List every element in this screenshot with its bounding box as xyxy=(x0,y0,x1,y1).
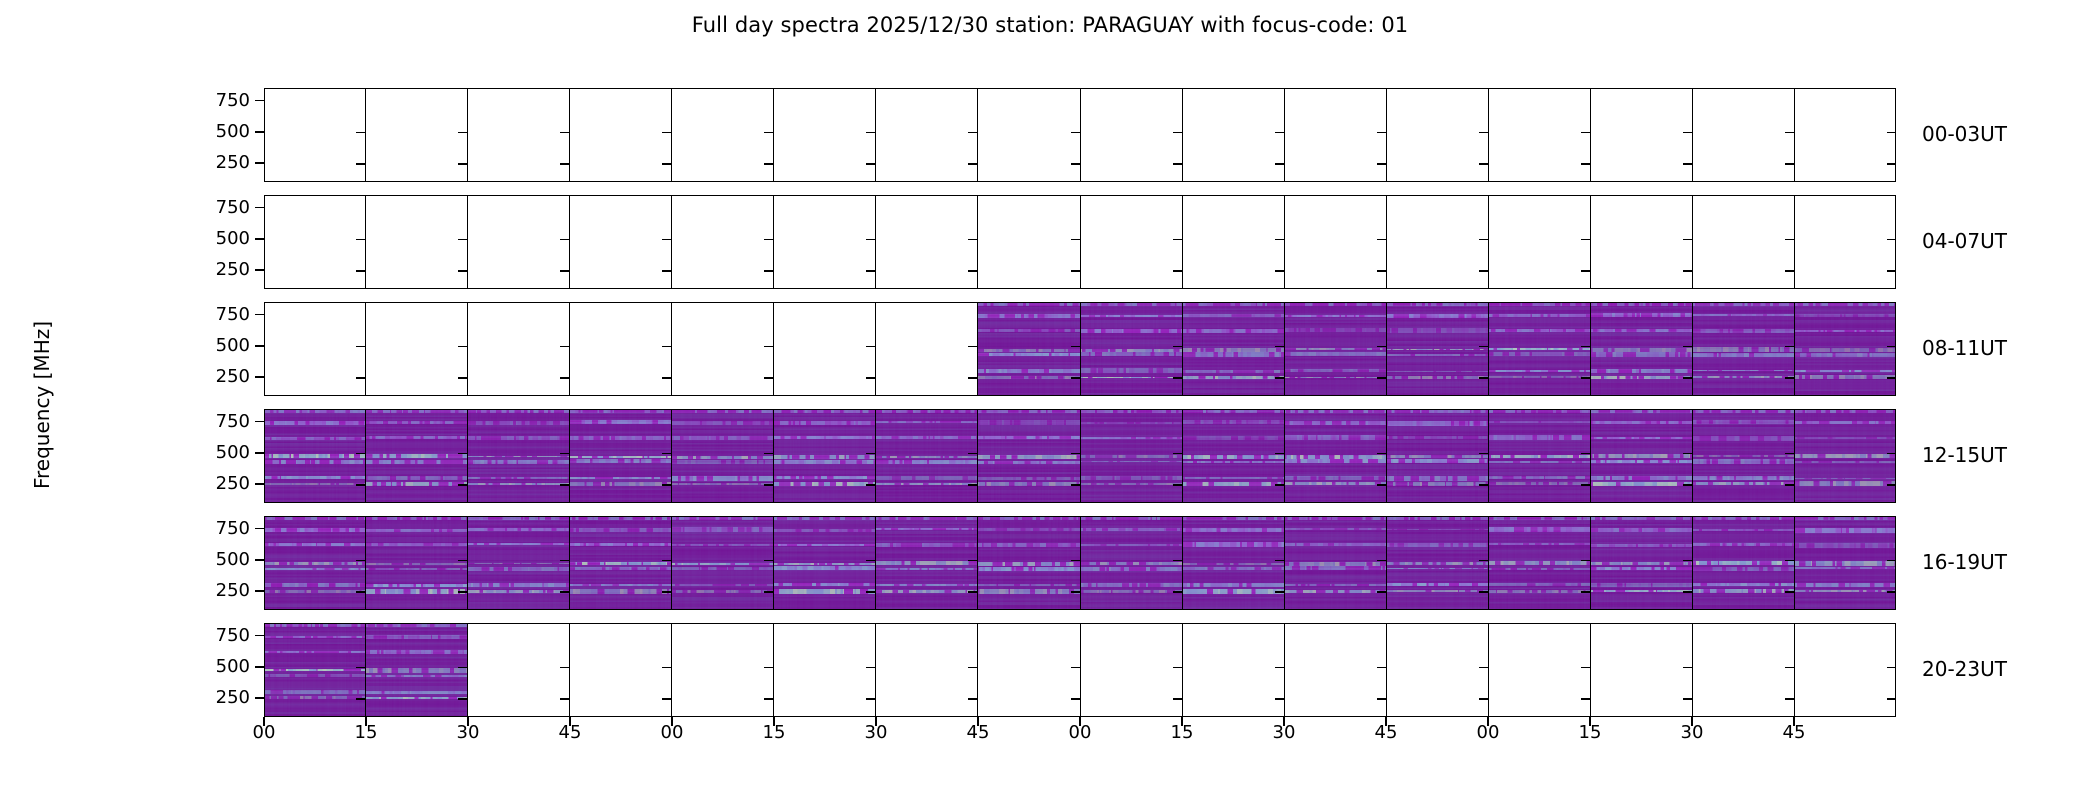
spectrogram-cell xyxy=(1387,195,1489,289)
figure-canvas: Full day spectra 2025/12/30 station: PAR… xyxy=(0,0,2100,800)
spectrogram-tile xyxy=(468,516,569,610)
x-gridline-tick xyxy=(1479,132,1488,134)
x-gridline-tick xyxy=(1887,239,1896,241)
spectrogram-cell xyxy=(264,195,366,289)
spectrogram-cell xyxy=(876,623,978,717)
spectrogram-cell xyxy=(774,409,876,503)
row-label-20-23ut: 20-23UT xyxy=(1922,657,2100,681)
x-gridline-tick xyxy=(356,560,365,562)
x-gridline-tick xyxy=(662,270,671,272)
spectrogram-cell xyxy=(978,88,1080,182)
x-gridline-tick xyxy=(1683,132,1692,134)
spectrogram-cell xyxy=(1795,195,1896,289)
x-gridline-tick xyxy=(1887,377,1896,379)
x-gridline-tick xyxy=(1785,163,1794,165)
spectrogram-cell xyxy=(468,516,570,610)
x-gridline-tick xyxy=(764,591,773,593)
x-gridline-tick xyxy=(968,377,977,379)
x-gridline-tick xyxy=(560,132,569,134)
x-tick-mark xyxy=(977,717,979,726)
x-gridline-tick xyxy=(1785,346,1794,348)
x-gridline-tick xyxy=(1581,667,1590,669)
x-gridline-tick xyxy=(968,591,977,593)
x-tick-mark xyxy=(569,717,571,726)
x-gridline-tick xyxy=(1581,270,1590,272)
x-gridline-tick xyxy=(560,377,569,379)
x-gridline-tick xyxy=(560,484,569,486)
x-gridline-tick xyxy=(1887,484,1896,486)
spectrogram-cell xyxy=(468,302,570,396)
x-gridline-tick xyxy=(968,239,977,241)
x-gridline-tick xyxy=(1581,591,1590,593)
spectrogram-cell xyxy=(1387,409,1489,503)
spectrogram-cell xyxy=(366,516,468,610)
x-gridline-tick xyxy=(1071,132,1080,134)
x-gridline-tick xyxy=(1071,346,1080,348)
spectrogram-cell xyxy=(1591,88,1693,182)
spectrogram-row xyxy=(264,88,1896,182)
x-gridline-tick xyxy=(866,591,875,593)
x-tick-mark xyxy=(1283,717,1285,726)
spectrogram-cell xyxy=(978,409,1080,503)
x-gridline-tick xyxy=(1377,377,1386,379)
x-gridline-tick xyxy=(662,591,671,593)
x-gridline-tick xyxy=(1683,484,1692,486)
spectrogram-cell xyxy=(264,302,366,396)
spectrogram-cell xyxy=(1081,88,1183,182)
y-tick-mark xyxy=(255,314,264,316)
spectrogram-cell xyxy=(468,195,570,289)
x-gridline-tick xyxy=(1173,484,1182,486)
spectrogram-cell xyxy=(1795,88,1896,182)
spectrogram-tile xyxy=(1795,516,1896,610)
y-tick-mark xyxy=(255,452,264,454)
y-tick-mark xyxy=(255,697,264,699)
y-tick-label: 250 xyxy=(50,687,250,708)
x-gridline-tick xyxy=(1683,163,1692,165)
x-gridline-tick xyxy=(560,239,569,241)
x-gridline-tick xyxy=(1173,667,1182,669)
spectrogram-tile xyxy=(264,516,365,610)
x-gridline-tick xyxy=(1275,270,1284,272)
x-gridline-tick xyxy=(1785,591,1794,593)
spectrogram-cell xyxy=(1285,88,1387,182)
x-gridline-tick xyxy=(764,667,773,669)
x-gridline-tick xyxy=(662,453,671,455)
x-gridline-tick xyxy=(662,239,671,241)
x-gridline-tick xyxy=(356,591,365,593)
spectrogram-cell xyxy=(570,302,672,396)
x-tick-mark xyxy=(1385,717,1387,726)
x-gridline-tick xyxy=(1887,346,1896,348)
y-tick-label: 500 xyxy=(50,335,250,356)
x-gridline-tick xyxy=(866,377,875,379)
x-gridline-tick xyxy=(866,453,875,455)
x-gridline-tick xyxy=(1785,377,1794,379)
x-gridline-tick xyxy=(1275,163,1284,165)
x-gridline-tick xyxy=(458,453,467,455)
spectrogram-cell xyxy=(774,88,876,182)
x-gridline-tick xyxy=(356,698,365,700)
spectrogram-tile xyxy=(1183,409,1284,503)
x-gridline-tick xyxy=(968,667,977,669)
x-gridline-tick xyxy=(1683,698,1692,700)
x-gridline-tick xyxy=(662,163,671,165)
spectrogram-cell xyxy=(570,88,672,182)
x-gridline-tick xyxy=(356,377,365,379)
spectrogram-cell xyxy=(1693,88,1795,182)
x-gridline-tick xyxy=(1887,667,1896,669)
x-gridline-tick xyxy=(968,453,977,455)
x-gridline-tick xyxy=(356,667,365,669)
spectrogram-cell xyxy=(1387,623,1489,717)
spectrogram-grid: 7505002507505002507505002507505002507505… xyxy=(264,88,1896,717)
x-gridline-tick xyxy=(1581,132,1590,134)
x-gridline-tick xyxy=(1887,270,1896,272)
spectrogram-cell xyxy=(1285,302,1387,396)
x-gridline-tick xyxy=(356,132,365,134)
spectrogram-cell xyxy=(774,623,876,717)
y-tick-label: 750 xyxy=(50,90,250,111)
y-tick-label: 750 xyxy=(50,411,250,432)
y-tick-label: 500 xyxy=(50,549,250,570)
spectrogram-row xyxy=(264,409,1896,503)
y-tick-mark xyxy=(255,345,264,347)
spectrogram-tile xyxy=(1795,409,1896,503)
spectrogram-cell xyxy=(978,516,1080,610)
x-gridline-tick xyxy=(1377,346,1386,348)
spectrogram-tile xyxy=(1285,516,1386,610)
x-gridline-tick xyxy=(1275,239,1284,241)
spectrogram-cell xyxy=(366,302,468,396)
x-gridline-tick xyxy=(1479,346,1488,348)
x-gridline-tick xyxy=(1887,453,1896,455)
x-gridline-tick xyxy=(1377,453,1386,455)
y-tick-label: 250 xyxy=(50,366,250,387)
x-tick-mark xyxy=(773,717,775,726)
x-gridline-tick xyxy=(1683,560,1692,562)
x-gridline-tick xyxy=(1581,698,1590,700)
spectrogram-cell xyxy=(1183,88,1285,182)
spectrogram-tile xyxy=(570,516,671,610)
spectrogram-cell xyxy=(1285,623,1387,717)
spectrogram-cell xyxy=(1795,409,1896,503)
y-tick-mark xyxy=(255,528,264,530)
y-tick-label: 750 xyxy=(50,518,250,539)
spectrogram-tile xyxy=(1795,302,1896,396)
spectrogram-cell xyxy=(672,623,774,717)
x-gridline-tick xyxy=(458,239,467,241)
spectrogram-tile xyxy=(1285,409,1386,503)
x-gridline-tick xyxy=(1683,239,1692,241)
x-gridline-tick xyxy=(1275,560,1284,562)
spectrogram-cell xyxy=(876,88,978,182)
row-label-04-07ut: 04-07UT xyxy=(1922,229,2100,253)
x-gridline-tick xyxy=(458,667,467,669)
spectrogram-cell xyxy=(978,195,1080,289)
spectrogram-tile xyxy=(1591,516,1692,610)
spectrogram-tile xyxy=(366,516,467,610)
spectrogram-cell xyxy=(774,195,876,289)
spectrogram-cell xyxy=(1591,302,1693,396)
x-gridline-tick xyxy=(866,270,875,272)
x-gridline-tick xyxy=(1071,591,1080,593)
y-tick-label: 250 xyxy=(50,152,250,173)
x-gridline-tick xyxy=(968,346,977,348)
x-gridline-tick xyxy=(1785,560,1794,562)
spectrogram-tile xyxy=(366,623,467,717)
spectrogram-cell xyxy=(1489,88,1591,182)
spectrogram-cell xyxy=(264,623,366,717)
x-tick-mark xyxy=(1691,717,1693,726)
spectrogram-cell xyxy=(1489,516,1591,610)
spectrogram-cell xyxy=(264,88,366,182)
x-gridline-tick xyxy=(560,346,569,348)
x-gridline-tick xyxy=(356,484,365,486)
x-gridline-tick xyxy=(1377,239,1386,241)
y-tick-mark xyxy=(255,666,264,668)
x-gridline-tick xyxy=(866,132,875,134)
x-gridline-tick xyxy=(1683,591,1692,593)
x-gridline-tick xyxy=(1887,698,1896,700)
x-gridline-tick xyxy=(1887,132,1896,134)
x-gridline-tick xyxy=(356,239,365,241)
spectrogram-tile xyxy=(1693,302,1794,396)
x-gridline-tick xyxy=(1683,270,1692,272)
x-gridline-tick xyxy=(1173,377,1182,379)
x-tick-mark xyxy=(467,717,469,726)
spectrogram-cell xyxy=(1183,195,1285,289)
x-gridline-tick xyxy=(1479,591,1488,593)
spectrogram-cell xyxy=(1693,623,1795,717)
spectrogram-tile xyxy=(774,409,875,503)
y-tick-mark xyxy=(255,483,264,485)
spectrogram-cell xyxy=(1183,409,1285,503)
x-tick-mark xyxy=(671,717,673,726)
x-gridline-tick xyxy=(764,163,773,165)
x-gridline-tick xyxy=(1377,163,1386,165)
x-tick-mark xyxy=(1181,717,1183,726)
x-gridline-tick xyxy=(1683,377,1692,379)
spectrogram-tile xyxy=(1387,516,1488,610)
x-gridline-tick xyxy=(1377,698,1386,700)
spectrogram-tile xyxy=(468,409,569,503)
y-tick-label: 500 xyxy=(50,656,250,677)
spectrogram-cell xyxy=(468,409,570,503)
x-tick-mark xyxy=(1589,717,1591,726)
x-gridline-tick xyxy=(1785,132,1794,134)
x-gridline-tick xyxy=(866,667,875,669)
x-gridline-tick xyxy=(662,346,671,348)
spectrogram-tile xyxy=(1489,302,1590,396)
x-gridline-tick xyxy=(560,453,569,455)
spectrogram-tile xyxy=(978,409,1079,503)
x-gridline-tick xyxy=(866,484,875,486)
x-gridline-tick xyxy=(866,346,875,348)
spectrogram-cell xyxy=(366,88,468,182)
spectrogram-cell xyxy=(1489,302,1591,396)
spectrogram-cell xyxy=(366,623,468,717)
x-gridline-tick xyxy=(560,667,569,669)
x-gridline-tick xyxy=(764,239,773,241)
spectrogram-tile xyxy=(978,516,1079,610)
x-gridline-tick xyxy=(1173,163,1182,165)
spectrogram-cell xyxy=(1285,409,1387,503)
x-gridline-tick xyxy=(1071,560,1080,562)
x-gridline-tick xyxy=(764,346,773,348)
spectrogram-cell xyxy=(1081,409,1183,503)
spectrogram-cell xyxy=(672,302,774,396)
x-gridline-tick xyxy=(1377,667,1386,669)
x-tick-mark xyxy=(875,717,877,726)
x-gridline-tick xyxy=(1275,132,1284,134)
x-gridline-tick xyxy=(458,484,467,486)
x-gridline-tick xyxy=(1173,591,1182,593)
x-gridline-tick xyxy=(662,560,671,562)
spectrogram-cell xyxy=(876,516,978,610)
spectrogram-row xyxy=(264,623,1896,717)
spectrogram-tile xyxy=(570,409,671,503)
x-gridline-tick xyxy=(764,453,773,455)
spectrogram-tile xyxy=(264,623,365,717)
x-gridline-tick xyxy=(662,377,671,379)
x-gridline-tick xyxy=(968,132,977,134)
x-gridline-tick xyxy=(1479,453,1488,455)
y-tick-label: 500 xyxy=(50,121,250,142)
x-gridline-tick xyxy=(1683,346,1692,348)
x-gridline-tick xyxy=(458,591,467,593)
x-gridline-tick xyxy=(866,698,875,700)
spectrogram-tile xyxy=(1081,302,1182,396)
spectrogram-cell xyxy=(570,623,672,717)
spectrogram-cell xyxy=(1387,88,1489,182)
spectrogram-cell xyxy=(1795,516,1896,610)
x-gridline-tick xyxy=(560,698,569,700)
x-gridline-tick xyxy=(356,346,365,348)
y-tick-mark xyxy=(255,207,264,209)
x-gridline-tick xyxy=(1173,270,1182,272)
x-gridline-tick xyxy=(1173,346,1182,348)
x-gridline-tick xyxy=(1377,591,1386,593)
x-gridline-tick xyxy=(458,132,467,134)
x-gridline-tick xyxy=(866,163,875,165)
spectrogram-cell xyxy=(1081,195,1183,289)
spectrogram-tile xyxy=(1285,302,1386,396)
spectrogram-cell xyxy=(1489,623,1591,717)
spectrogram-tile xyxy=(1387,409,1488,503)
x-gridline-tick xyxy=(1479,270,1488,272)
x-gridline-tick xyxy=(1377,484,1386,486)
x-tick-mark xyxy=(263,717,265,726)
spectrogram-tile xyxy=(672,516,773,610)
x-gridline-tick xyxy=(1683,667,1692,669)
x-gridline-tick xyxy=(968,270,977,272)
y-tick-label: 750 xyxy=(50,197,250,218)
spectrogram-tile xyxy=(1183,516,1284,610)
spectrogram-row xyxy=(264,195,1896,289)
x-gridline-tick xyxy=(458,163,467,165)
x-gridline-tick xyxy=(1377,270,1386,272)
x-gridline-tick xyxy=(662,667,671,669)
y-tick-mark xyxy=(255,100,264,102)
x-gridline-tick xyxy=(356,270,365,272)
x-gridline-tick xyxy=(458,346,467,348)
x-gridline-tick xyxy=(356,163,365,165)
x-gridline-tick xyxy=(1071,239,1080,241)
x-gridline-tick xyxy=(1581,484,1590,486)
x-gridline-tick xyxy=(1275,484,1284,486)
spectrogram-cell xyxy=(570,516,672,610)
x-gridline-tick xyxy=(662,484,671,486)
x-gridline-tick xyxy=(458,377,467,379)
y-tick-label: 250 xyxy=(50,259,250,280)
spectrogram-cell xyxy=(570,195,672,289)
spectrogram-tile xyxy=(1081,516,1182,610)
spectrogram-cell xyxy=(1489,195,1591,289)
x-gridline-tick xyxy=(1275,667,1284,669)
x-gridline-tick xyxy=(356,453,365,455)
x-gridline-tick xyxy=(968,163,977,165)
spectrogram-cell xyxy=(1183,623,1285,717)
y-tick-mark xyxy=(255,269,264,271)
spectrogram-row xyxy=(264,302,1896,396)
spectrogram-cell xyxy=(876,409,978,503)
spectrogram-cell xyxy=(1285,516,1387,610)
y-tick-label: 250 xyxy=(50,580,250,601)
spectrogram-cell xyxy=(1591,409,1693,503)
x-gridline-tick xyxy=(1275,346,1284,348)
x-gridline-tick xyxy=(1377,560,1386,562)
spectrogram-cell xyxy=(1693,302,1795,396)
x-gridline-tick xyxy=(560,591,569,593)
x-gridline-tick xyxy=(1785,667,1794,669)
x-tick-mark xyxy=(1079,717,1081,726)
spectrogram-tile xyxy=(672,409,773,503)
spectrogram-tile xyxy=(366,409,467,503)
spectrogram-cell xyxy=(1795,302,1896,396)
spectrogram-cell xyxy=(1081,623,1183,717)
x-gridline-tick xyxy=(1581,453,1590,455)
spectrogram-cell xyxy=(1591,195,1693,289)
spectrogram-tile xyxy=(1693,516,1794,610)
spectrogram-cell xyxy=(1183,302,1285,396)
row-label-12-15ut: 12-15UT xyxy=(1922,443,2100,467)
x-gridline-tick xyxy=(1479,484,1488,486)
x-gridline-tick xyxy=(662,698,671,700)
y-tick-mark xyxy=(255,421,264,423)
spectrogram-cell xyxy=(1387,516,1489,610)
x-gridline-tick xyxy=(1785,239,1794,241)
spectrogram-cell xyxy=(1693,409,1795,503)
x-tick-mark xyxy=(365,717,367,726)
x-tick-mark xyxy=(1487,717,1489,726)
x-gridline-tick xyxy=(764,270,773,272)
spectrogram-tile xyxy=(978,302,1079,396)
spectrogram-tile xyxy=(1387,302,1488,396)
spectrogram-tile xyxy=(876,409,977,503)
spectrogram-row xyxy=(264,516,1896,610)
x-gridline-tick xyxy=(1071,163,1080,165)
x-gridline-tick xyxy=(1479,698,1488,700)
spectrogram-cell xyxy=(1693,516,1795,610)
spectrogram-tile xyxy=(876,516,977,610)
x-gridline-tick xyxy=(968,560,977,562)
x-gridline-tick xyxy=(1479,560,1488,562)
y-tick-mark xyxy=(255,238,264,240)
x-gridline-tick xyxy=(1581,239,1590,241)
x-gridline-tick xyxy=(1173,132,1182,134)
x-gridline-tick xyxy=(764,132,773,134)
